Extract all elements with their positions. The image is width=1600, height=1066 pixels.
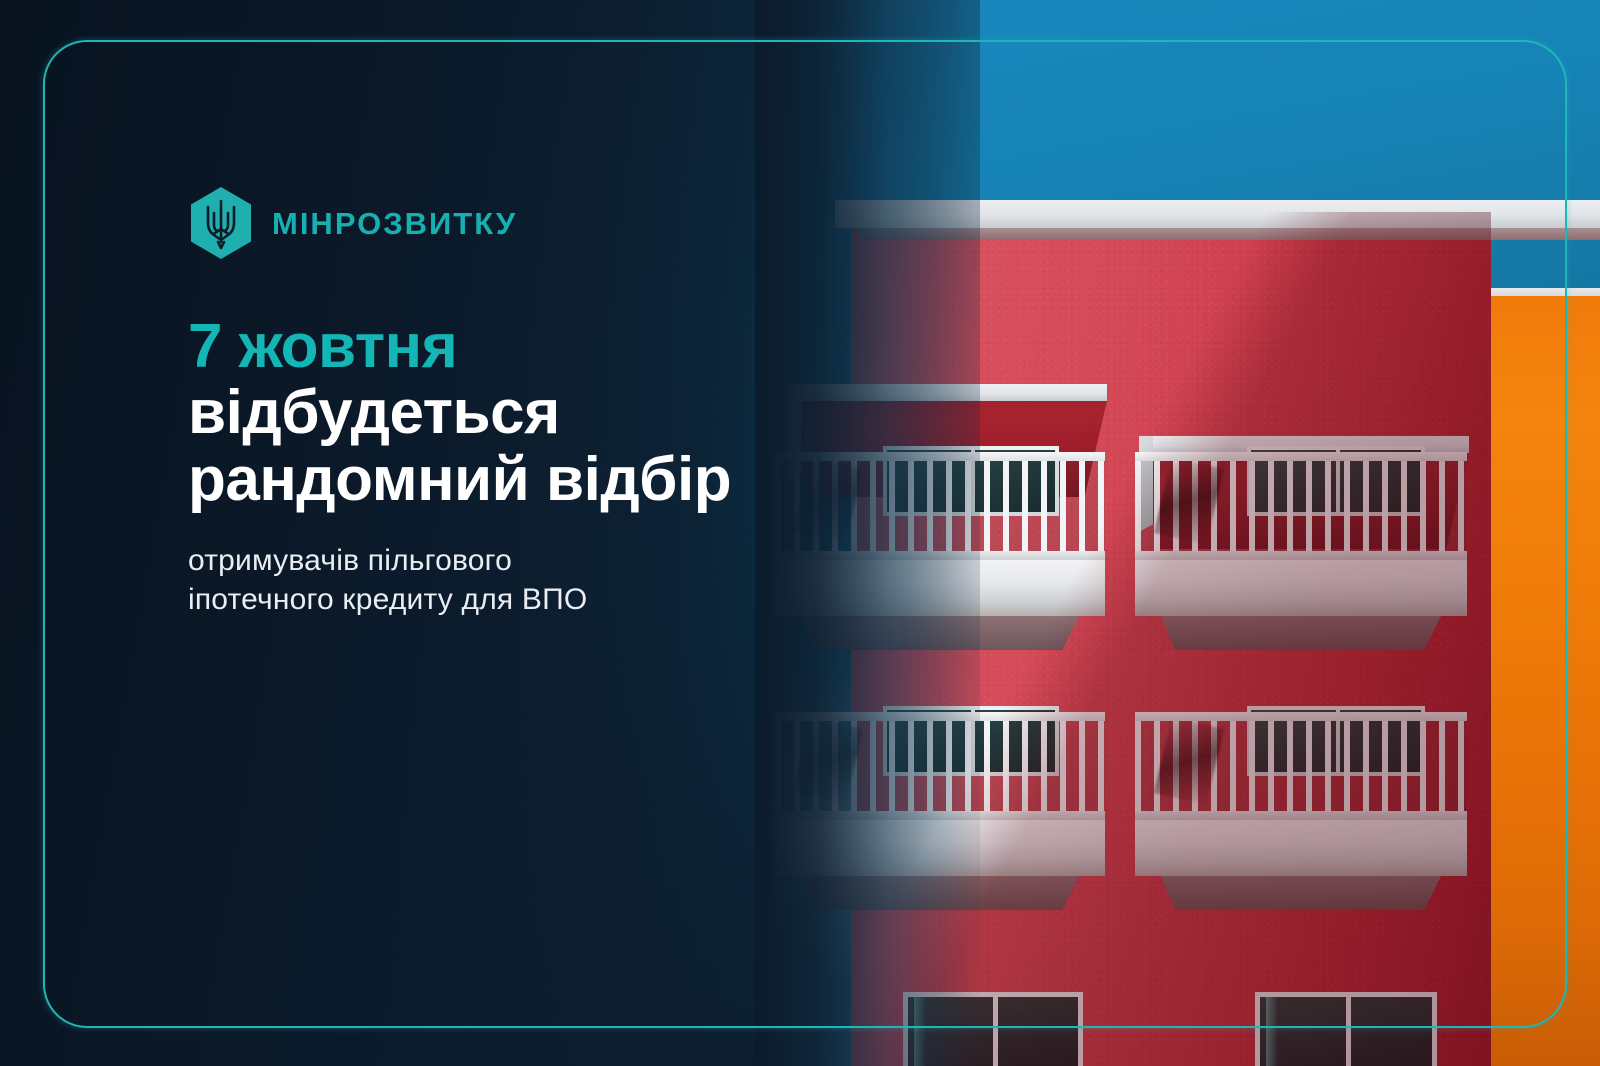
headline-line-1: відбудеться xyxy=(188,380,888,446)
balcony-underside xyxy=(1161,876,1441,910)
brand-lockup: МІНРОЗВИТКУ xyxy=(188,186,888,260)
railing-top-rail xyxy=(1135,712,1467,721)
poster-canvas: МІНРОЗВИТКУ 7 жовтня відбудеться рандомн… xyxy=(0,0,1600,1066)
balcony-railing xyxy=(1135,712,1467,820)
balcony-underside xyxy=(801,616,1079,650)
railing-top-rail xyxy=(775,712,1105,721)
balcony-deck xyxy=(1135,820,1467,876)
headline-group: 7 жовтня відбудеться рандомний відбір xyxy=(188,314,888,513)
window-ground-right xyxy=(1255,992,1437,1066)
window-glint xyxy=(914,997,926,1066)
balcony-underside xyxy=(1161,616,1441,650)
balcony-railing xyxy=(775,712,1105,820)
balcony-railing xyxy=(1135,452,1467,560)
window-mullion xyxy=(1346,997,1351,1066)
railing-bottom-rail xyxy=(1135,811,1467,820)
brand-name: МІНРОЗВИТКУ xyxy=(272,208,517,239)
subtitle-line-1: отримувачів пільгового xyxy=(188,541,888,580)
headline-date: 7 жовтня xyxy=(188,314,888,380)
balcony-underside xyxy=(801,876,1079,910)
roof-slab xyxy=(835,200,1600,228)
subtitle-group: отримувачів пільгового іпотечного кредит… xyxy=(188,541,888,619)
text-content-block: МІНРОЗВИТКУ 7 жовтня відбудеться рандомн… xyxy=(188,0,888,619)
railing-top-rail xyxy=(1135,452,1467,461)
railing-bottom-rail xyxy=(1135,551,1467,560)
roof-soffit xyxy=(859,228,1600,240)
balcony-upper-right xyxy=(1135,452,1467,616)
window-glint xyxy=(1266,997,1278,1066)
window-ground-left xyxy=(903,992,1083,1066)
window-mullion xyxy=(993,997,998,1066)
balcony-deck xyxy=(775,820,1105,876)
subtitle-line-2: іпотечного кредиту для ВПО xyxy=(188,580,888,619)
ukraine-trident-hexagon-icon xyxy=(188,186,254,260)
railing-bottom-rail xyxy=(775,811,1105,820)
balcony-lower-right xyxy=(1135,712,1467,876)
balcony-deck xyxy=(1135,560,1467,616)
balcony-lower-left xyxy=(775,712,1105,876)
headline-line-2: рандомний відбір xyxy=(188,447,888,513)
